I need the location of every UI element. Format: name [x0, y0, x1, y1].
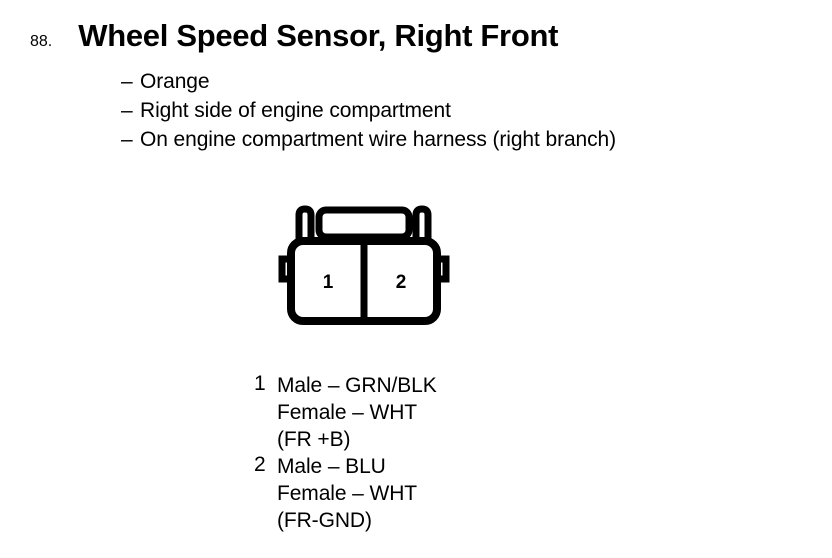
pin-legend-line: (FR +B): [277, 426, 437, 453]
description-list: – Orange – Right side of engine compartm…: [121, 70, 616, 157]
pin-legend-number: 2: [254, 453, 277, 477]
dash-bullet-icon: –: [121, 70, 140, 94]
description-item-label: On engine compartment wire harness (righ…: [140, 128, 616, 152]
pin-legend-line: Male – GRN/BLK: [277, 372, 437, 399]
dash-bullet-icon: –: [121, 99, 140, 123]
pin-legend-lines: Male – GRN/BLK Female – WHT (FR +B): [277, 372, 437, 453]
dash-bullet-icon: –: [121, 128, 140, 152]
description-item-label: Orange: [140, 70, 209, 94]
description-item: – Right side of engine compartment: [121, 99, 616, 128]
pin-legend-lines: Male – BLU Female – WHT (FR-GND): [277, 453, 417, 534]
pin-legend-entry: 2 Male – BLU Female – WHT (FR-GND): [254, 453, 437, 534]
pin-legend-entry: 1 Male – GRN/BLK Female – WHT (FR +B): [254, 372, 437, 453]
connector-svg: 1 2: [270, 203, 475, 328]
connector-diagram: 1 2: [270, 203, 475, 328]
pin-legend-line: Female – WHT: [277, 399, 437, 426]
center-latch-bar-icon: [319, 210, 409, 237]
description-item: – Orange: [121, 70, 616, 99]
pin-legend: 1 Male – GRN/BLK Female – WHT (FR +B) 2 …: [254, 372, 437, 534]
pin-legend-number: 1: [254, 372, 277, 396]
description-item-label: Right side of engine compartment: [140, 99, 451, 123]
page-title: 88. Wheel Speed Sensor, Right Front: [30, 18, 558, 54]
pin-legend-line: Male – BLU: [277, 453, 417, 480]
section-title: Wheel Speed Sensor, Right Front: [78, 18, 558, 54]
cavity-label-2: 2: [396, 272, 407, 293]
description-item: – On engine compartment wire harness (ri…: [121, 128, 616, 157]
section-number: 88.: [30, 33, 52, 51]
pin-legend-line: Female – WHT: [277, 480, 417, 507]
cavity-label-1: 1: [323, 272, 334, 293]
pin-legend-line: (FR-GND): [277, 507, 417, 534]
